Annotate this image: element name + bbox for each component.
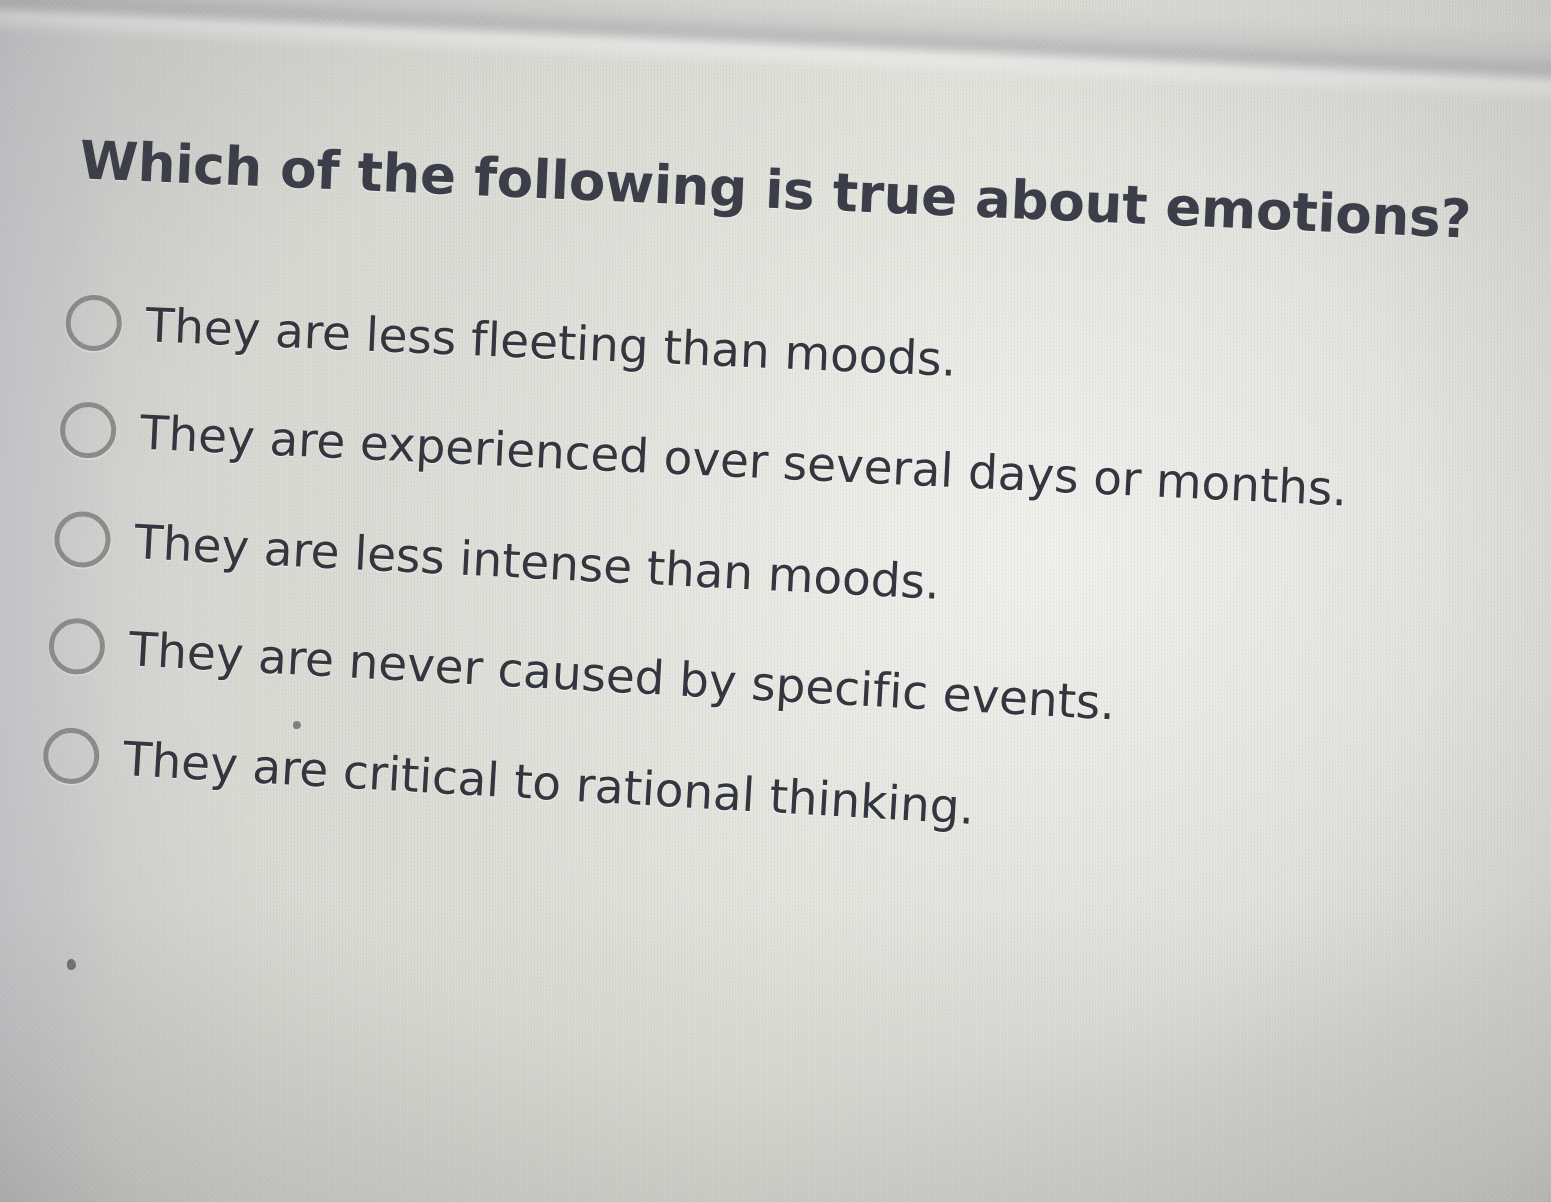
- page-title: Which of the following is true about emo…: [78, 130, 1472, 250]
- radio-button-icon[interactable]: [53, 510, 112, 569]
- answer-option-row[interactable]: They are experienced over several days o…: [59, 401, 1349, 518]
- answer-option-row[interactable]: They are never caused by specific events…: [47, 617, 1116, 732]
- radio-button-icon[interactable]: [47, 617, 106, 676]
- radio-button-icon[interactable]: [59, 401, 118, 460]
- answer-option-label: They are less fleeting than moods.: [144, 298, 957, 388]
- answer-option-label: They are critical to rational thinking.: [122, 731, 976, 835]
- radio-button-icon[interactable]: [42, 726, 101, 785]
- screen-photo: Which of the following is true about emo…: [0, 0, 1551, 1202]
- answer-option-row[interactable]: They are less intense than moods.: [53, 510, 941, 611]
- quiz-content: Which of the following is true about emo…: [0, 0, 1551, 1202]
- answer-option-label: They are experienced over several days o…: [139, 405, 1349, 517]
- answer-option-row[interactable]: They are critical to rational thinking.: [42, 726, 976, 836]
- radio-button-icon[interactable]: [65, 294, 123, 352]
- answer-option-row[interactable]: They are less fleeting than moods.: [65, 294, 958, 388]
- answer-option-label: They are less intense than moods.: [133, 515, 941, 611]
- answer-option-label: They are never caused by specific events…: [127, 622, 1116, 731]
